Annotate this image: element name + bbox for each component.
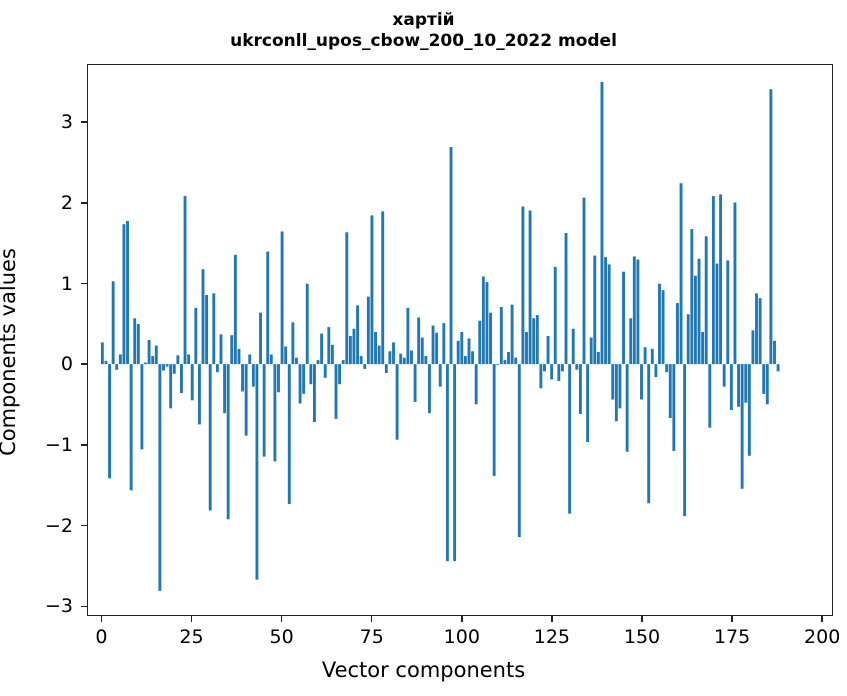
bar bbox=[363, 364, 366, 369]
bar bbox=[148, 340, 151, 364]
bar bbox=[151, 356, 154, 364]
bar bbox=[701, 332, 704, 364]
bar bbox=[777, 364, 780, 371]
x-tick-mark bbox=[461, 616, 463, 622]
plot-area bbox=[87, 64, 833, 616]
bar bbox=[586, 364, 589, 442]
bar bbox=[604, 257, 607, 364]
bar bbox=[672, 364, 675, 451]
bar bbox=[317, 360, 320, 364]
bar bbox=[299, 364, 302, 403]
x-tick-label: 125 bbox=[534, 626, 570, 648]
bar bbox=[105, 361, 108, 364]
bar bbox=[399, 354, 402, 364]
chart-title: хартій ukrconll_upos_cbow_200_10_2022 mo… bbox=[0, 10, 847, 52]
bar bbox=[647, 364, 650, 503]
bar bbox=[374, 332, 377, 364]
bar bbox=[173, 364, 176, 374]
bar bbox=[680, 183, 683, 364]
bar bbox=[665, 364, 668, 372]
bar bbox=[234, 255, 237, 364]
bar bbox=[687, 314, 690, 364]
bar bbox=[435, 333, 438, 364]
bar bbox=[335, 364, 338, 419]
bar bbox=[496, 364, 499, 365]
bar bbox=[202, 269, 205, 364]
bar bbox=[503, 360, 506, 364]
bar bbox=[478, 321, 481, 364]
x-axis-label: Vector components bbox=[0, 658, 847, 682]
bar bbox=[169, 364, 172, 408]
bar bbox=[619, 364, 622, 408]
bar bbox=[529, 211, 532, 365]
bar bbox=[737, 364, 740, 407]
bar bbox=[636, 260, 639, 365]
x-tick-label: 175 bbox=[714, 626, 750, 648]
bar bbox=[723, 364, 726, 387]
bar bbox=[525, 332, 528, 364]
bar bbox=[766, 364, 769, 404]
bar bbox=[284, 346, 287, 364]
bar bbox=[205, 295, 208, 364]
bar bbox=[119, 354, 122, 364]
bar bbox=[698, 259, 701, 364]
x-tick-mark bbox=[101, 616, 103, 622]
bar bbox=[759, 298, 762, 364]
x-tick-label: 25 bbox=[179, 626, 203, 648]
bar bbox=[392, 342, 395, 364]
x-tick-mark bbox=[191, 616, 193, 622]
bar bbox=[536, 315, 539, 364]
bar bbox=[410, 350, 413, 364]
bar bbox=[252, 364, 255, 387]
bar bbox=[266, 252, 269, 365]
bar bbox=[730, 364, 733, 410]
bar bbox=[629, 318, 632, 364]
bar bbox=[338, 364, 341, 384]
bar bbox=[133, 318, 136, 364]
bar bbox=[367, 297, 370, 365]
bar bbox=[622, 272, 625, 364]
bar bbox=[216, 364, 219, 372]
bar bbox=[762, 364, 765, 394]
bar bbox=[191, 364, 194, 400]
bar bbox=[223, 364, 226, 413]
y-tick-label: −3 bbox=[0, 595, 73, 617]
bar bbox=[137, 324, 140, 364]
x-tick-label: 200 bbox=[804, 626, 840, 648]
bar bbox=[140, 364, 143, 449]
y-tick-label: −2 bbox=[0, 515, 73, 537]
bar bbox=[521, 207, 524, 365]
bar bbox=[230, 335, 233, 364]
bar bbox=[708, 364, 711, 428]
bar bbox=[115, 364, 118, 370]
y-tick-label: 3 bbox=[0, 111, 73, 133]
bar bbox=[615, 364, 618, 421]
bar bbox=[255, 364, 258, 579]
x-tick-label: 50 bbox=[270, 626, 294, 648]
bar bbox=[511, 305, 514, 365]
bar bbox=[565, 233, 568, 364]
bar bbox=[158, 364, 161, 591]
bar bbox=[611, 364, 614, 399]
bar bbox=[676, 303, 679, 364]
bar bbox=[101, 342, 104, 364]
bar bbox=[288, 364, 291, 504]
bar bbox=[557, 364, 560, 381]
bar bbox=[575, 364, 578, 370]
bar bbox=[640, 364, 643, 399]
x-tick-label: 150 bbox=[624, 626, 660, 648]
bar bbox=[342, 360, 345, 364]
bar bbox=[248, 354, 251, 364]
bar bbox=[741, 364, 744, 489]
bar bbox=[424, 356, 427, 364]
bar bbox=[371, 215, 374, 364]
bar bbox=[198, 364, 201, 424]
bar bbox=[493, 364, 496, 476]
bar bbox=[313, 364, 316, 422]
y-tick-label: 2 bbox=[0, 192, 73, 214]
bar bbox=[554, 267, 557, 364]
bar bbox=[543, 364, 546, 371]
bar bbox=[457, 341, 460, 364]
bar bbox=[388, 351, 391, 364]
bar bbox=[547, 336, 550, 364]
bar bbox=[597, 352, 600, 364]
bar bbox=[514, 358, 517, 364]
bar bbox=[468, 338, 471, 364]
chart-title-line-2: ukrconll_upos_cbow_200_10_2022 model bbox=[0, 31, 847, 52]
bar bbox=[651, 349, 654, 364]
bar bbox=[306, 284, 309, 364]
bar bbox=[633, 256, 636, 364]
bar bbox=[209, 364, 212, 510]
bar bbox=[694, 276, 697, 364]
bar bbox=[439, 364, 442, 387]
bar bbox=[726, 260, 729, 364]
bar bbox=[507, 352, 510, 364]
bar bbox=[561, 364, 564, 371]
chart-title-line-1: хартій bbox=[0, 10, 847, 31]
chart-figure: хартій ukrconll_upos_cbow_200_10_2022 mo… bbox=[0, 0, 847, 696]
bar bbox=[263, 364, 266, 456]
bar bbox=[475, 364, 478, 404]
bar bbox=[291, 322, 294, 364]
bar bbox=[406, 308, 409, 364]
bar bbox=[572, 329, 575, 364]
bar bbox=[690, 229, 693, 364]
bar bbox=[716, 264, 719, 365]
bar bbox=[471, 351, 474, 364]
bar bbox=[130, 364, 133, 490]
bar bbox=[212, 293, 215, 364]
bar bbox=[302, 364, 305, 394]
bar bbox=[489, 313, 492, 364]
bar bbox=[550, 364, 553, 379]
x-tick-mark bbox=[281, 616, 283, 622]
bar bbox=[669, 364, 672, 418]
bar bbox=[432, 326, 435, 365]
bar bbox=[220, 334, 223, 364]
bar bbox=[453, 364, 456, 561]
bar bbox=[281, 231, 284, 364]
bar bbox=[123, 224, 126, 364]
bar bbox=[295, 358, 298, 364]
bar bbox=[500, 307, 503, 364]
bar bbox=[658, 284, 661, 364]
bar bbox=[518, 364, 521, 537]
bar bbox=[773, 341, 776, 364]
bar bbox=[769, 89, 772, 364]
bar bbox=[417, 317, 420, 364]
bar bbox=[180, 364, 183, 393]
bar bbox=[579, 364, 582, 414]
y-axis-label: Components values bbox=[0, 248, 20, 456]
bar bbox=[593, 256, 596, 365]
x-tick-label: 100 bbox=[444, 626, 480, 648]
bar bbox=[320, 334, 323, 365]
x-tick-mark bbox=[821, 616, 823, 622]
bar bbox=[327, 327, 330, 364]
bar bbox=[184, 196, 187, 364]
bar-series-canvas bbox=[88, 65, 832, 615]
bar bbox=[662, 290, 665, 364]
bar bbox=[608, 264, 611, 364]
bar bbox=[187, 354, 190, 364]
bar bbox=[654, 364, 657, 377]
bar bbox=[194, 308, 197, 364]
bar bbox=[460, 332, 463, 364]
bar bbox=[356, 305, 359, 364]
bar bbox=[583, 198, 586, 364]
bar bbox=[734, 203, 737, 365]
bar bbox=[309, 364, 312, 384]
bar bbox=[751, 330, 754, 364]
bar bbox=[385, 364, 388, 373]
bar bbox=[442, 323, 445, 364]
x-tick-label: 75 bbox=[360, 626, 384, 648]
bar bbox=[644, 347, 647, 364]
bar bbox=[378, 346, 381, 364]
bar bbox=[126, 221, 129, 364]
bar bbox=[108, 364, 111, 478]
bar bbox=[532, 318, 535, 364]
bar bbox=[112, 281, 115, 364]
bar bbox=[273, 364, 276, 461]
bar bbox=[744, 364, 747, 403]
bar bbox=[381, 211, 384, 364]
bar bbox=[539, 364, 542, 388]
bar bbox=[568, 364, 571, 514]
bar bbox=[446, 364, 449, 561]
bar bbox=[626, 364, 629, 452]
bar bbox=[464, 356, 467, 364]
bar bbox=[144, 363, 147, 365]
bar bbox=[155, 346, 158, 364]
bar bbox=[590, 338, 593, 365]
bar bbox=[712, 196, 715, 364]
bar bbox=[259, 313, 262, 364]
bar bbox=[396, 364, 399, 440]
bar bbox=[162, 364, 165, 370]
bar bbox=[486, 282, 489, 364]
bar bbox=[414, 364, 417, 402]
x-tick-mark bbox=[641, 616, 643, 622]
bar bbox=[277, 364, 280, 392]
x-tick-mark bbox=[551, 616, 553, 622]
x-tick-label: 0 bbox=[95, 626, 107, 648]
bar bbox=[705, 236, 708, 364]
bar bbox=[245, 364, 248, 436]
bar bbox=[421, 338, 424, 365]
x-tick-mark bbox=[371, 616, 373, 622]
bar bbox=[176, 355, 179, 364]
bar bbox=[331, 345, 334, 364]
bar bbox=[719, 194, 722, 364]
bar bbox=[403, 358, 406, 364]
bar bbox=[748, 364, 751, 456]
bar bbox=[360, 356, 363, 364]
bar bbox=[683, 364, 686, 516]
bar bbox=[270, 354, 273, 364]
bar bbox=[227, 364, 230, 519]
bar bbox=[482, 276, 485, 364]
bar bbox=[238, 349, 241, 364]
bar bbox=[353, 329, 356, 364]
bar bbox=[755, 293, 758, 364]
bar bbox=[166, 364, 169, 366]
bar bbox=[345, 232, 348, 364]
bar bbox=[241, 364, 244, 391]
x-tick-mark bbox=[731, 616, 733, 622]
bar bbox=[450, 147, 453, 364]
bar bbox=[349, 336, 352, 364]
bar bbox=[428, 364, 431, 413]
bar bbox=[601, 82, 604, 364]
bar bbox=[324, 364, 327, 378]
